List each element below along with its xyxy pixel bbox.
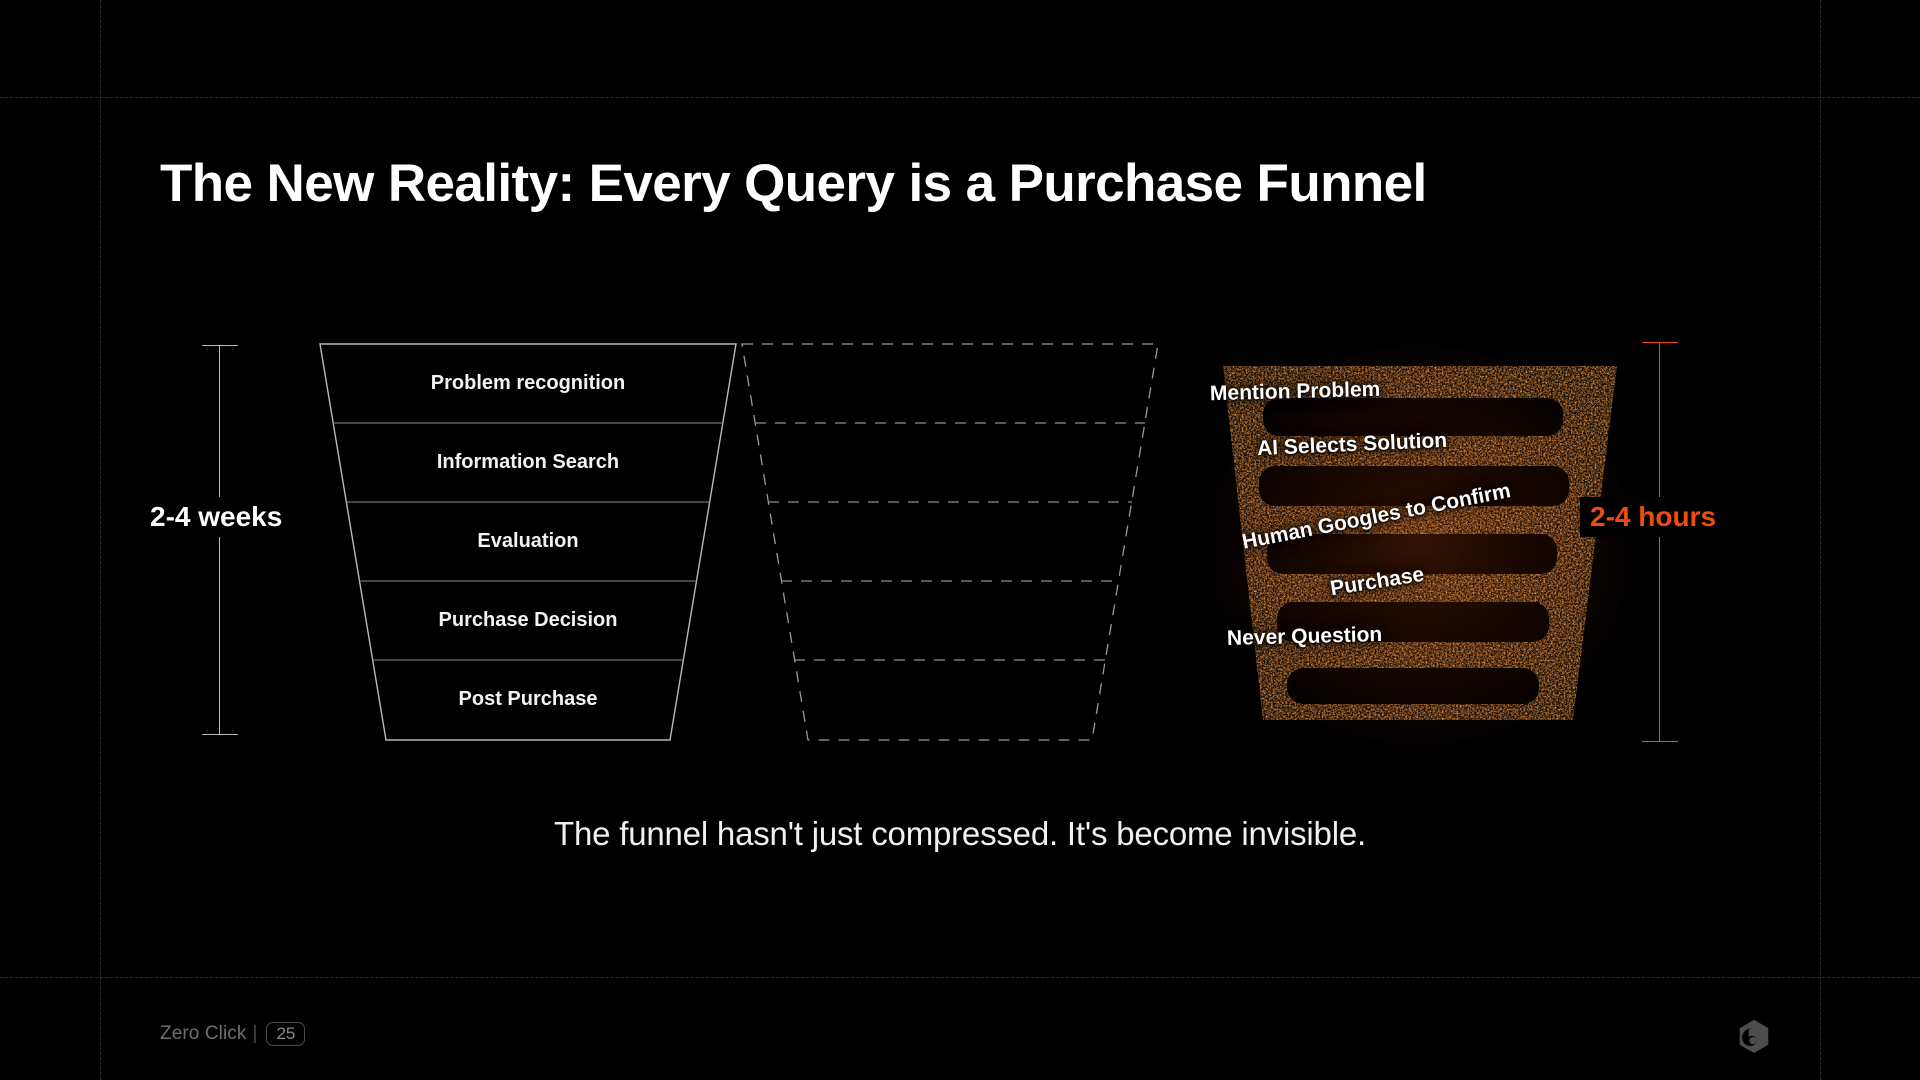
funnel-stage-label: Problem recognition bbox=[318, 372, 738, 395]
bracket-cap-top bbox=[1642, 342, 1678, 343]
funnel-stage-label: Evaluation bbox=[318, 530, 738, 553]
duration-label-ai: 2-4 hours bbox=[1580, 497, 1726, 537]
grid-line-horizontal-bottom bbox=[0, 977, 1920, 978]
slide-root: The New Reality: Every Query is a Purcha… bbox=[0, 0, 1920, 1080]
footer: Zero Click | 25 bbox=[160, 1022, 305, 1046]
grid-line-horizontal-top bbox=[0, 97, 1920, 98]
traditional-funnel: Problem recognition Information Search E… bbox=[318, 342, 738, 742]
footer-brand: Zero Click bbox=[160, 1023, 247, 1045]
bracket-cap-top bbox=[202, 345, 238, 346]
duration-bracket-right bbox=[1640, 342, 1680, 742]
page-number-badge: 25 bbox=[266, 1022, 305, 1046]
hexagon-swirl-logo-icon bbox=[1735, 1018, 1773, 1056]
page-title: The New Reality: Every Query is a Purcha… bbox=[160, 155, 1427, 213]
bracket-stem bbox=[1659, 342, 1660, 742]
ai-funnel-stage-label: Never Question bbox=[1227, 623, 1383, 651]
ai-funnel-stage-label: Mention Problem bbox=[1210, 378, 1381, 406]
funnel-stage-label: Purchase Decision bbox=[318, 609, 738, 632]
bracket-stem bbox=[219, 345, 220, 735]
duration-bracket-left bbox=[200, 345, 240, 735]
slide-caption: The funnel hasn't just compressed. It's … bbox=[0, 815, 1920, 853]
transitional-funnel bbox=[740, 342, 1160, 742]
transitional-funnel-shape bbox=[740, 342, 1160, 742]
footer-separator: | bbox=[253, 1023, 258, 1045]
funnel-stage-label: Information Search bbox=[318, 451, 738, 474]
funnel-stage-label: Post Purchase bbox=[318, 688, 738, 711]
ai-funnel: Mention Problem AI Selects Solution Huma… bbox=[1215, 320, 1625, 750]
duration-label-traditional: 2-4 weeks bbox=[140, 497, 292, 537]
bracket-cap-bottom bbox=[1642, 741, 1678, 742]
bracket-cap-bottom bbox=[202, 734, 238, 735]
